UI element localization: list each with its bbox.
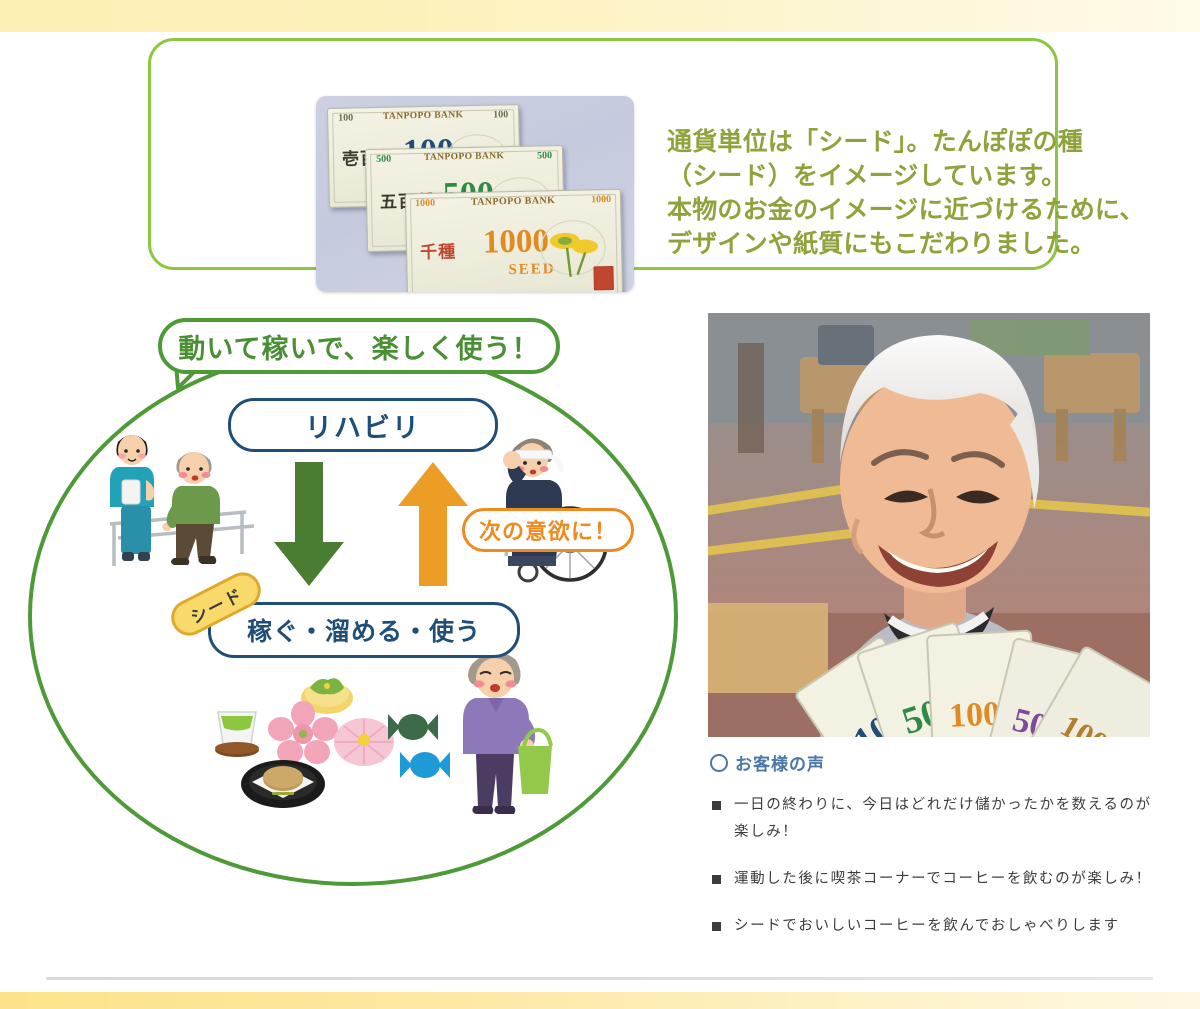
customer-photo-graphic: 100 SEED 500 SEED 1000 SEED 5000 1000 [708,313,1150,737]
footer-divider [46,977,1153,980]
bill-100-corner-left: 100 [338,112,353,123]
next-motivation-label: 次の意欲に！ [479,514,617,546]
square-bullet-icon [712,801,721,810]
customer-voices-heading: お客様の声 [710,750,825,775]
bill-100-corner-right: 100 [493,109,508,120]
cycle-headline-banner: 動いて稼いで、楽しく使う！ [158,318,560,374]
candy-blue-illustration [398,748,452,782]
currency-description-line-1: 通貨単位は「シード」。たんぽぽの種 [667,125,1187,159]
square-bullet-icon [712,875,721,884]
list-item: シードでおいしいコーヒーを飲んでおしゃべりします [710,913,1152,940]
cycle-headline-label: 動いて稼いで、楽しく使う！ [178,327,539,366]
arrow-up-icon [396,460,470,588]
customer-voice-text: 一日の終わりに、今日はどれだけ儲かったかを数えるのが楽しみ！ [734,797,1152,840]
list-item: 一日の終わりに、今日はどれだけ儲かったかを数えるのが楽しみ！ [710,792,1152,846]
list-item: 運動した後に喫茶コーナーでコーヒーを飲むのが楽しみ！ [710,866,1152,893]
bill-1000: TANPOPO BANK 1000 1000 千種 1000 SEED [405,189,623,292]
bill-1000-corner-left: 1000 [415,198,435,209]
elderly-woman-shopping-illustration [448,640,558,820]
top-decorative-band [0,0,1200,32]
cycle-step-rehabilitation-label: リハビリ [305,406,421,445]
customer-voice-text: シードでおいしいコーヒーを飲んでおしゃべりします [734,918,1120,934]
circle-bullet-icon [710,754,728,772]
elderly-walking-figure [162,452,220,565]
currency-description-line-4: デザインや紙質にもこだわりました。 [667,227,1187,261]
currency-description-line-2: （シード）をイメージしています。 [667,159,1187,193]
bill-1000-seal [593,266,613,290]
bill-1000-kanji: 千種 [420,237,457,263]
next-motivation-pill: 次の意欲に！ [462,508,634,552]
customer-photo: 100 SEED 500 SEED 1000 SEED 5000 1000 [708,313,1150,737]
bill-1000-corner-right: 1000 [591,194,611,205]
customer-voices-heading-label: お客様の声 [735,750,825,775]
square-bullet-icon [712,922,721,931]
candy-green-illustration [386,710,440,744]
bill-500-corner-right: 500 [537,150,552,161]
cycle-step-earn-save-spend-label: 稼ぐ・溜める・使う [247,612,481,648]
arrow-down-icon [272,462,346,588]
customer-voice-text: 運動した後に喫茶コーナーでコーヒーを飲むのが楽しみ！ [734,871,1152,887]
customer-voices-list: 一日の終わりに、今日はどれだけ儲かったかを数えるのが楽しみ！ 運動した後に喫茶コ… [710,792,1152,960]
currency-description: 通貨単位は「シード」。たんぽぽの種 （シード）をイメージしています。 本物のお金… [667,125,1187,261]
bottom-decorative-band [0,992,1200,1009]
cycle-step-rehabilitation: リハビリ [228,398,498,452]
currency-description-line-3: 本物のお金のイメージに近づけるために、 [667,193,1187,227]
dorayaki-plate-illustration [240,748,326,810]
banknote-photo: TANPOPO BANK 100 100 壱百種 100 TANPOPO BAN… [316,96,634,292]
therapist-figure [110,435,154,561]
cycle-step-earn-save-spend: 稼ぐ・溜める・使う [208,602,520,658]
banknote-info-card: TANPOPO BANK 100 100 壱百種 100 TANPOPO BAN… [148,38,1058,270]
bill-500-corner-left: 500 [376,154,391,165]
